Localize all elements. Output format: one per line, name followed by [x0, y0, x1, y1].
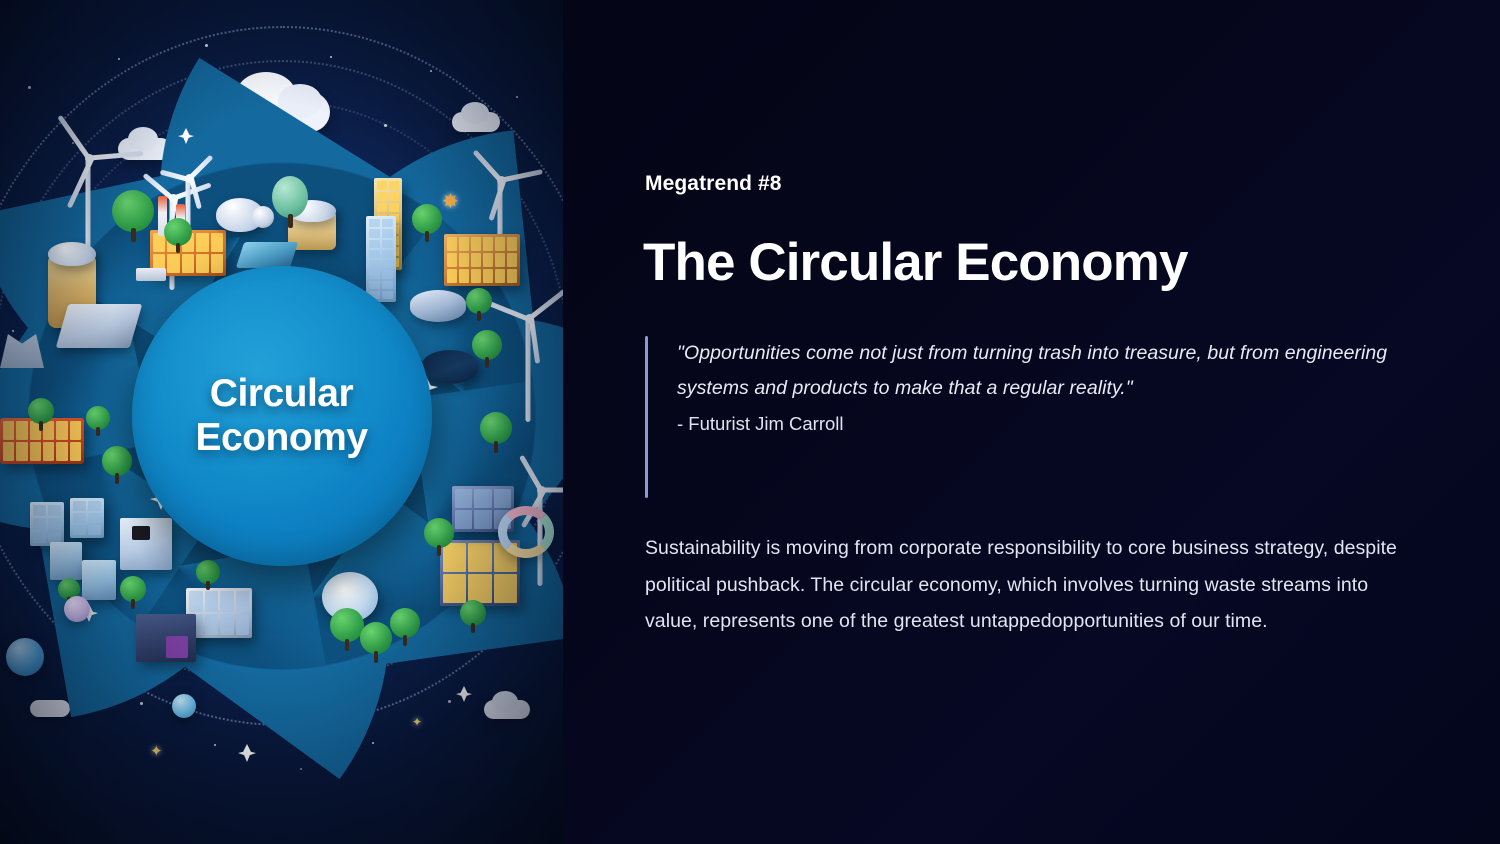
residential-block: [70, 498, 104, 538]
cloud-bottom-right: [484, 700, 530, 719]
recycling-track: [498, 506, 554, 558]
page-title: The Circular Economy: [643, 234, 1188, 291]
body-paragraph: Sustainability is moving from corporate …: [645, 530, 1415, 640]
slide-root: ✦ ✦ ✦ ✦ ✦ ✦: [0, 0, 1500, 844]
energy-burst-icon: ✸: [442, 192, 459, 212]
center-disc: Circular Economy: [132, 266, 432, 566]
quote-accent-bar: [645, 336, 648, 498]
quote-block: "Opportunities come not just from turnin…: [645, 336, 1435, 498]
silo-dome: [48, 242, 96, 266]
content-panel: Megatrend #8 The Circular Economy "Oppor…: [563, 0, 1500, 844]
globe-icon: [6, 638, 44, 676]
residential-block: [50, 542, 82, 580]
sparkle-icon: ✦: [412, 716, 422, 728]
quote-attribution: - Futurist Jim Carroll: [677, 413, 1435, 435]
residential-block: [30, 502, 64, 546]
megatrend-eyebrow: Megatrend #8: [645, 172, 782, 196]
center-label-line2: Economy: [195, 416, 367, 459]
commercial-building: [444, 234, 520, 286]
illustration-stage: ✦ ✦ ✦ ✦ ✦ ✦: [0, 0, 563, 844]
sparkle-icon: ✦: [150, 744, 163, 759]
circular-economy-illustration: ✦ ✦ ✦ ✦ ✦ ✦: [0, 0, 563, 844]
residential-block: [82, 560, 116, 600]
equipment-pad: [252, 206, 274, 228]
data-panel: [56, 304, 143, 348]
solar-array: [236, 242, 298, 268]
cloud-small-right: [452, 112, 500, 132]
quote-text: "Opportunities come not just from turnin…: [677, 336, 1417, 405]
office-tower-blue: [366, 216, 396, 302]
center-label-line1: Circular: [210, 372, 353, 415]
arena-structure: [410, 290, 466, 322]
factory-truck: [136, 268, 166, 281]
sphere-icon: [172, 694, 196, 718]
lab-building: [120, 518, 172, 570]
content-inner: Megatrend #8 The Circular Economy "Oppor…: [645, 0, 1435, 844]
cloud-bottom-left: [30, 700, 70, 717]
sphere-icon: [64, 596, 90, 622]
arena-structure: [422, 350, 478, 384]
workshop-building: [136, 614, 196, 662]
